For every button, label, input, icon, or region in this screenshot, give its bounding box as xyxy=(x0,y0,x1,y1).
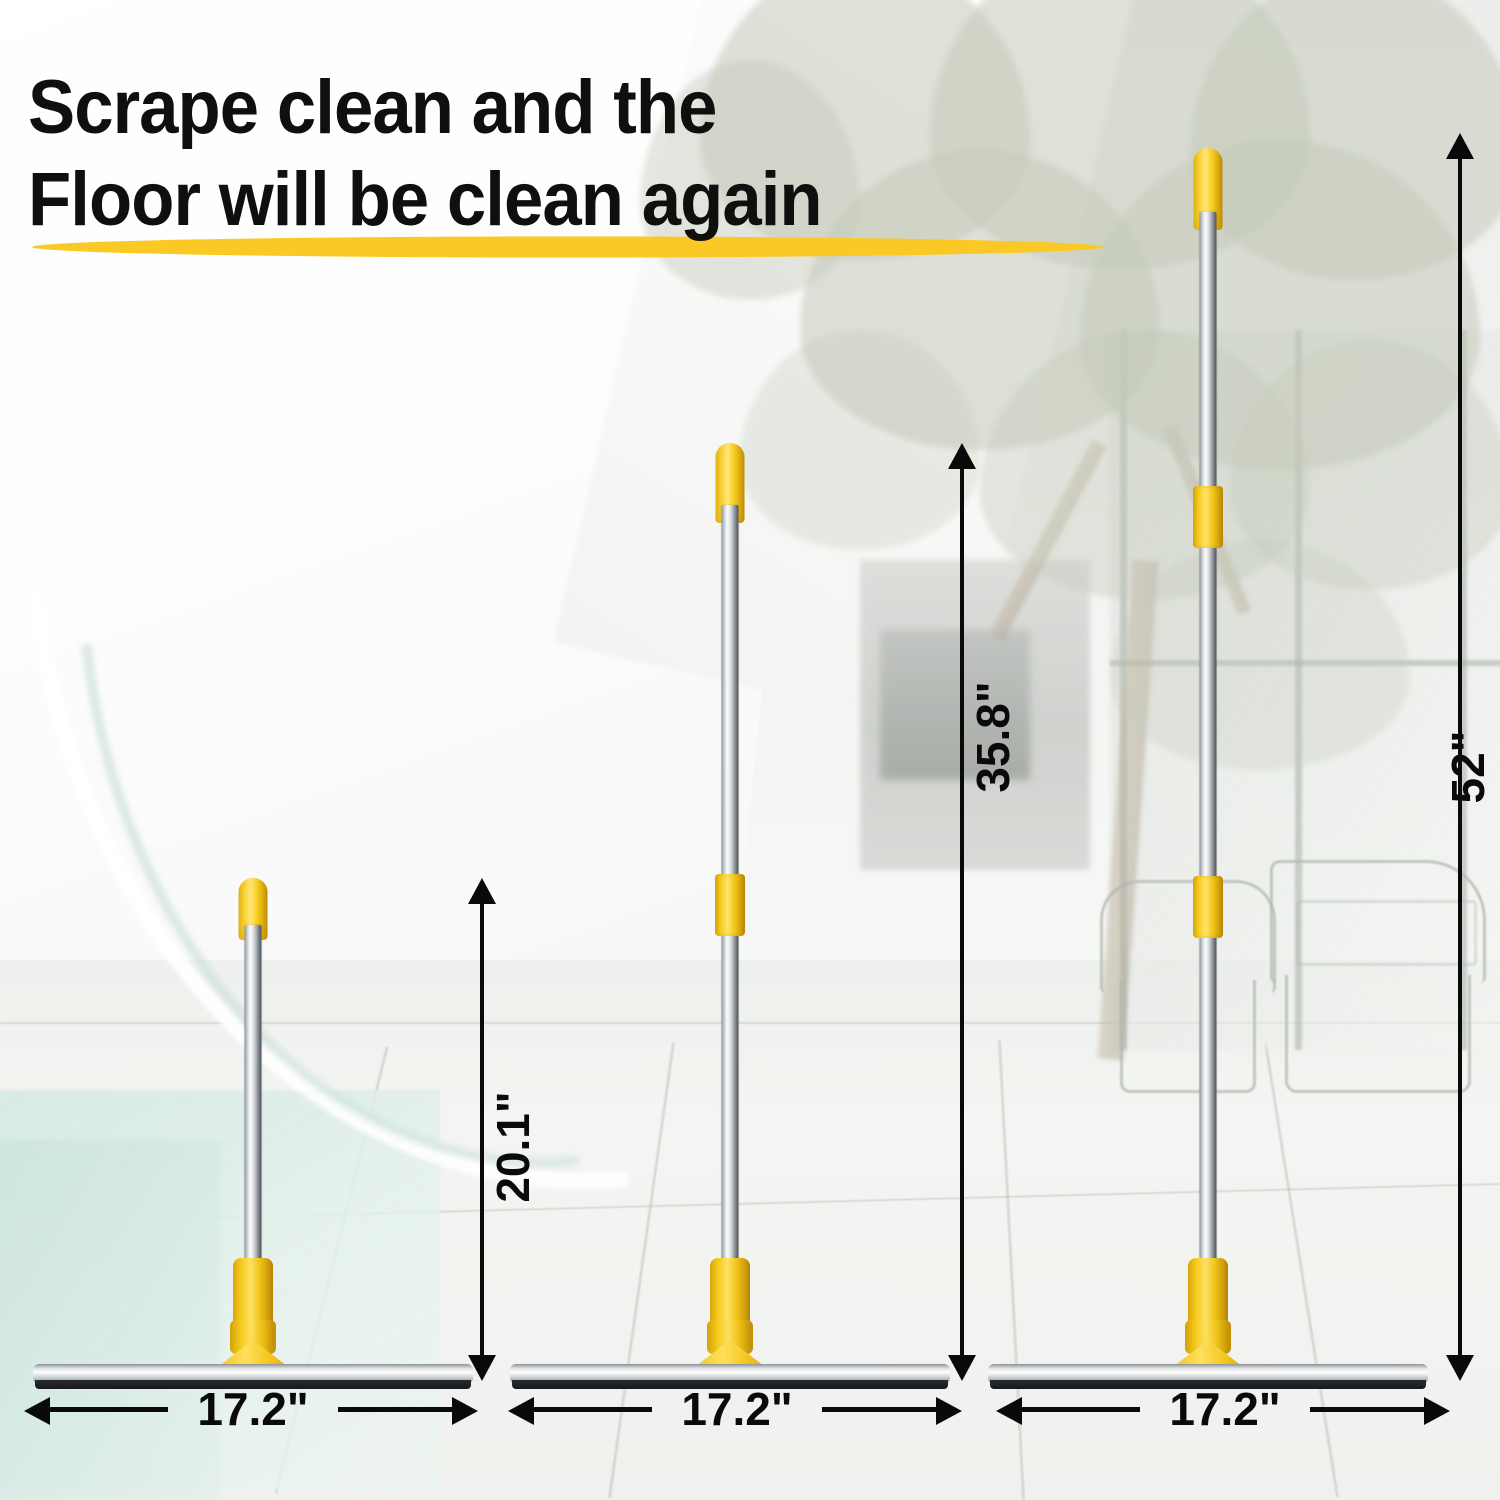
arrow-left-icon xyxy=(508,1397,534,1425)
dimension-line xyxy=(822,1407,942,1412)
arrow-down-icon xyxy=(1446,1355,1474,1381)
height-label-medium: 35.8" xyxy=(966,642,1020,832)
extension-lock-collar xyxy=(1193,876,1223,938)
handle-pole xyxy=(1200,212,1217,1270)
dimension-line xyxy=(532,1407,652,1412)
headline: Scrape clean and the Floor will be clean… xyxy=(28,62,1118,246)
dimension-line xyxy=(1020,1407,1140,1412)
handle-pole xyxy=(245,925,262,1270)
extension-lock-collar xyxy=(1193,486,1223,548)
headline-line-2: Floor will be clean again xyxy=(28,154,1042,246)
arrow-up-icon xyxy=(468,878,496,904)
arrow-right-icon xyxy=(452,1397,478,1425)
arrow-right-icon xyxy=(1424,1397,1450,1425)
height-label-long: 52" xyxy=(1441,687,1495,847)
arrow-left-icon xyxy=(24,1397,50,1425)
arrow-down-icon xyxy=(948,1355,976,1381)
extension-lock-collar xyxy=(715,874,745,936)
width-label-long: 17.2" xyxy=(1150,1382,1300,1436)
arrow-left-icon xyxy=(996,1397,1022,1425)
arrow-right-icon xyxy=(936,1397,962,1425)
height-label-short: 20.1" xyxy=(486,1052,540,1242)
dimension-line xyxy=(48,1407,168,1412)
arrow-up-icon xyxy=(1446,133,1474,159)
dimension-line xyxy=(480,902,484,1362)
headline-line-1: Scrape clean and the xyxy=(28,62,1042,154)
dimension-line xyxy=(960,467,964,1362)
product-infographic: Scrape clean and the Floor will be clean… xyxy=(0,0,1500,1500)
arrow-up-icon xyxy=(948,443,976,469)
width-label-medium: 17.2" xyxy=(662,1382,812,1436)
dimension-line xyxy=(1310,1407,1430,1412)
arrow-down-icon xyxy=(468,1355,496,1381)
width-label-short: 17.2" xyxy=(178,1382,328,1436)
dimension-line xyxy=(338,1407,458,1412)
